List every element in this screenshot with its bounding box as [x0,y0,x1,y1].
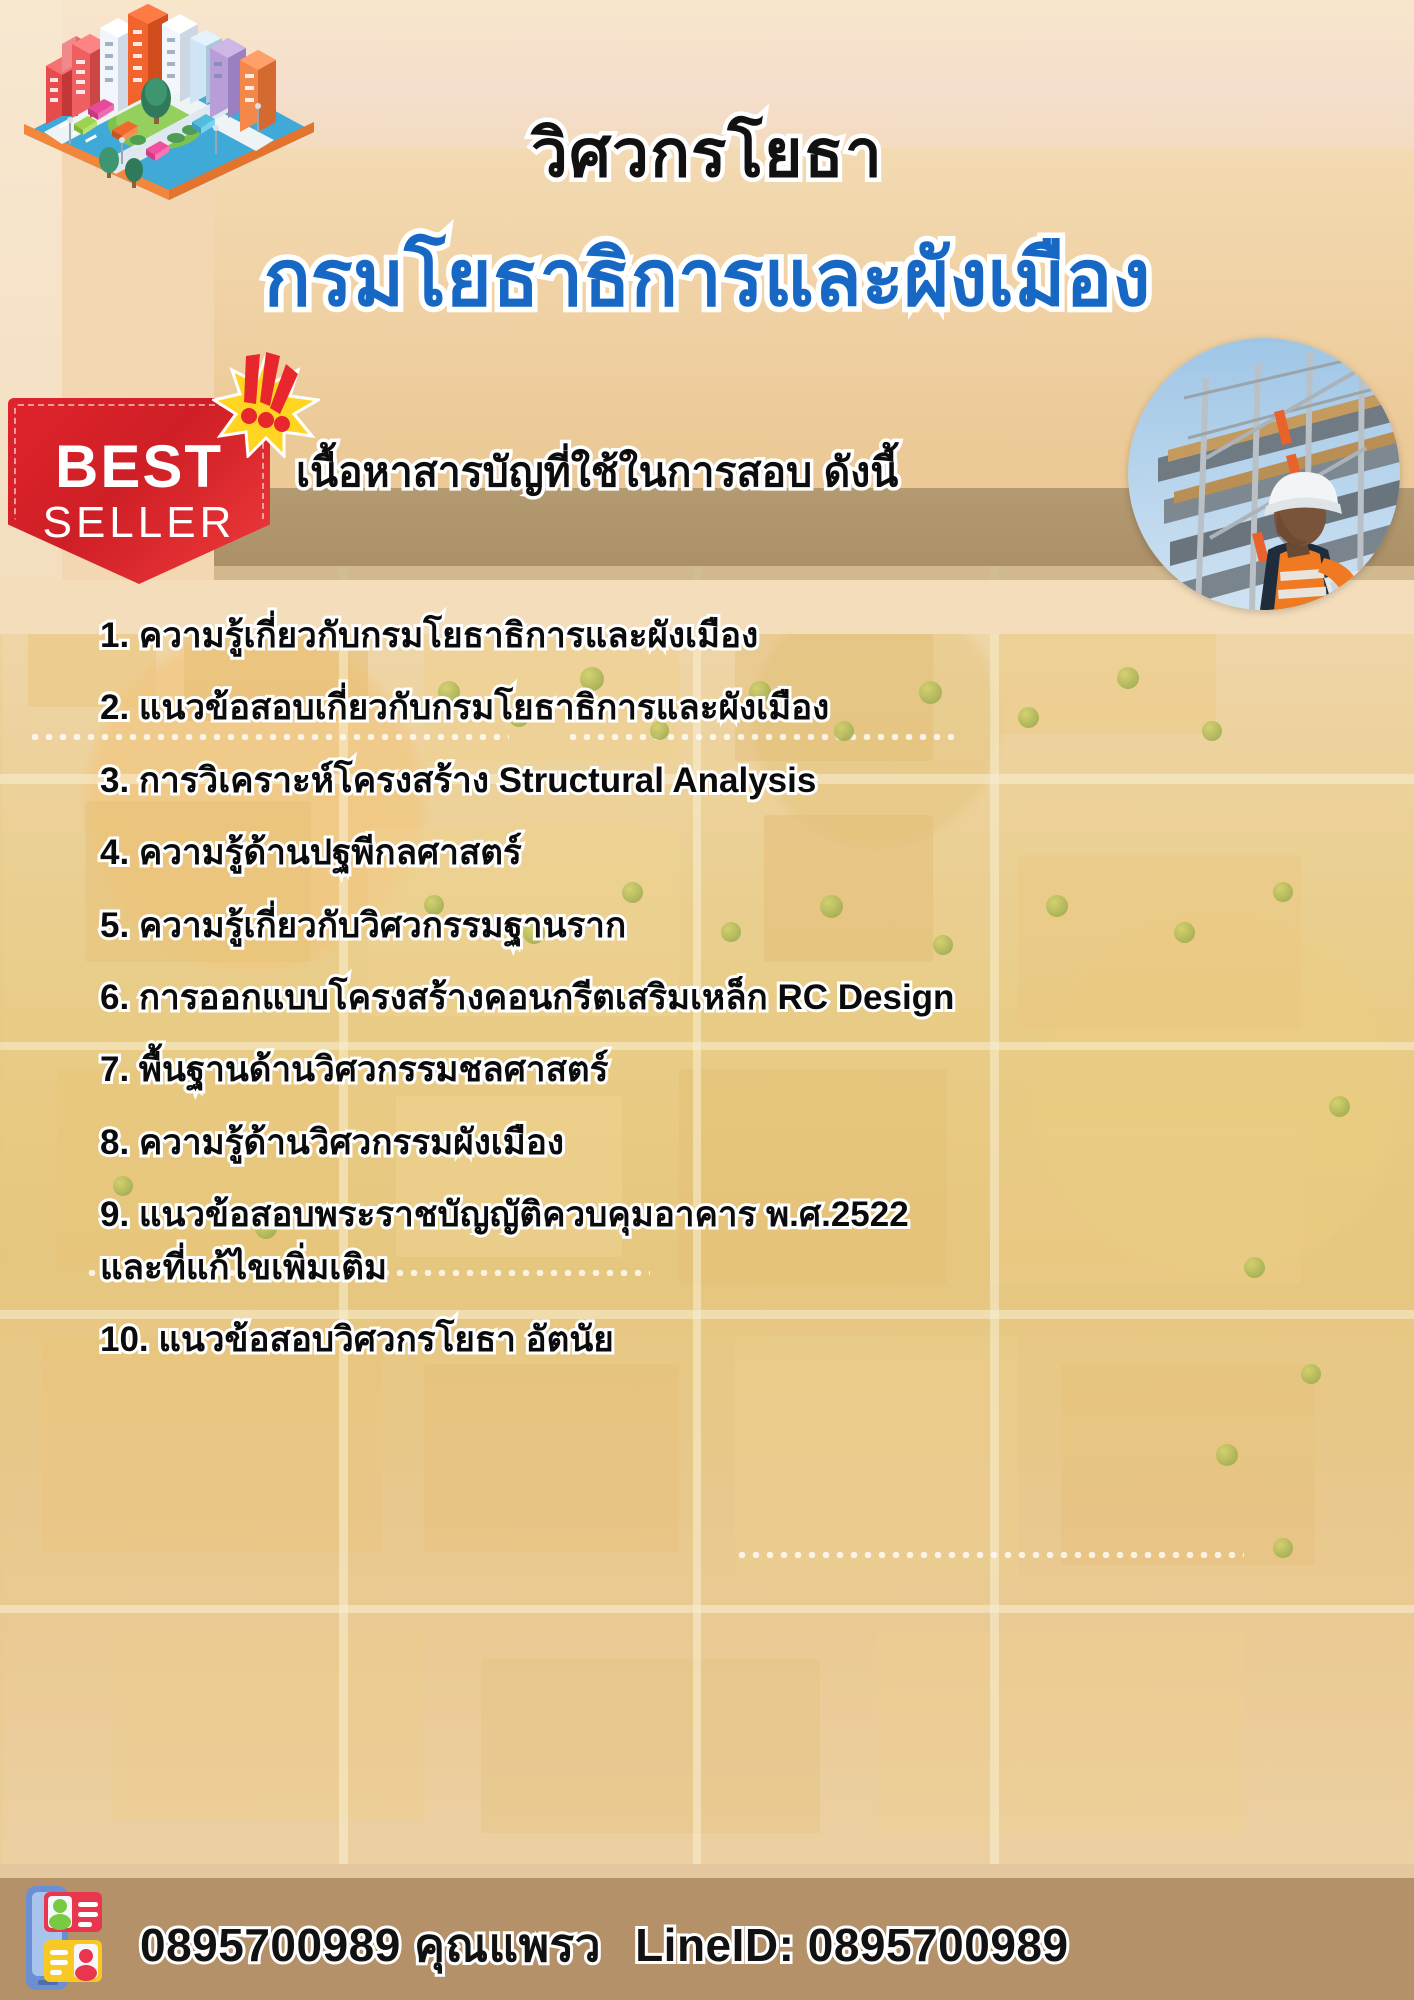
footer-divider [0,1864,1414,1878]
list-item-continuation: และที่แก้ไขเพิ่มเติม [100,1250,1334,1286]
page-title-main: วิศวกรโยธา [0,118,1414,189]
construction-worker-photo [1128,338,1400,610]
list-item: 7. พื้นฐานด้านวิศวกรรมชลศาสตร์ [100,1052,1334,1088]
list-item: 9. แนวข้อสอบพระราชบัญญัติควบคุมอาคาร พ.ศ… [100,1197,1334,1233]
list-item: 4. ความรู้ด้านปฐพีกลศาสตร์ [100,835,1334,871]
footer-contact-text: 0895700989 คุณแพรวLineID: 0895700989 [140,1909,1069,1982]
poster-root: วิศวกรโยธา กรมโยธาธิการและผังเมือง BEST … [0,0,1414,2000]
footer-phone: 0895700989 คุณแพรว [140,1919,601,1971]
contact-footer-bar: 0895700989 คุณแพรวLineID: 0895700989 [0,1878,1414,2000]
list-item: 6. การออกแบบโครงสร้างคอนกรีตเสริมเหล็ก R… [100,980,1334,1016]
exam-topics-list: 1. ความรู้เกี่ยวกับกรมโยธาธิการและผังเมื… [100,618,1334,1394]
list-item: 3. การวิเคราะห์โครงสร้าง Structural Anal… [100,763,1334,799]
page-title-department: กรมโยธาธิการและผังเมือง [0,236,1414,320]
list-item: 1. ความรู้เกี่ยวกับกรมโยธาธิการและผังเมื… [100,618,1334,654]
exam-content-subtitle: เนื้อหาสารบัญที่ใช้ในการสอบ ดังนี้ [296,440,996,505]
badge-seller-label: SELLER [8,498,270,548]
contact-card-icon [20,1882,130,1994]
list-item: 8. ความรู้ด้านวิศวกรรมผังเมือง [100,1125,1334,1161]
list-item: 2. แนวข้อสอบเกี่ยวกับกรมโยธาธิการและผังเ… [100,690,1334,726]
footer-line-id: LineID: 0895700989 [635,1919,1069,1971]
list-item: 10. แนวข้อสอบวิศวกรโยธา อัตนัย [100,1322,1334,1358]
list-item: 5. ความรู้เกี่ยวกับวิศวกรรมฐานราก [100,908,1334,944]
